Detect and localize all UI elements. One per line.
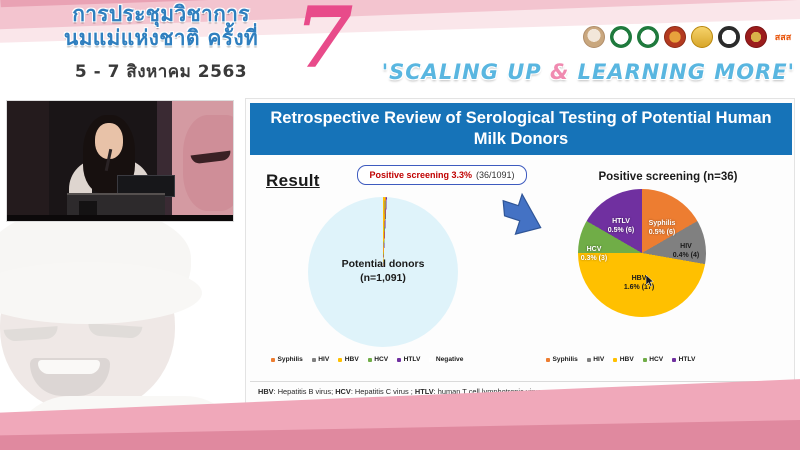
footnote-hbv-text: : Hepatitis B virus; (274, 387, 336, 396)
legend-label-hcv-right: HCV (649, 356, 663, 363)
slice-label-syphilis: Syphilis 0.5% (6) (639, 219, 685, 237)
presentation-slide: Retrospective Review of Serological Test… (245, 98, 795, 406)
legend-label-hbv-left: HBV (345, 356, 359, 363)
conference-thai-title-line2: นมแม่แห่งชาติ ครั้งที่ (16, 26, 306, 50)
legend-item-hiv-right: HIV (587, 356, 605, 363)
slice-label-syphilis-value: 0.5% (6) (639, 228, 685, 237)
positive-screening-callout: Positive screening 3.3% (36/1091) (357, 165, 527, 185)
legend-label-syphilis-left: Syphilis (278, 356, 303, 363)
legend-item-hcv-right: HCV (643, 356, 663, 363)
slice-label-hcv-name: HCV (577, 245, 611, 254)
slice-label-htlv: HTLV 0.5% (6) (601, 217, 641, 235)
slice-label-hiv-value: 0.4% (4) (666, 251, 706, 260)
potential-donors-pie-chart: Potential donors (n=1,091) (280, 189, 508, 359)
legend-label-htlv-right: HTLV (679, 356, 696, 363)
tagline-part-1: 'SCALING UP (382, 60, 550, 84)
slice-label-hcv-value: 0.3% (3) (577, 254, 611, 263)
logo-princess-foundation-icon (583, 26, 605, 48)
logo-royal-crest-orange-icon (664, 26, 686, 48)
legend-item-hbv-left: HBV (338, 356, 358, 363)
callout-detail-text: (36/1091) (476, 170, 515, 180)
legend-swatch-hiv-right (587, 358, 591, 362)
slice-label-hbv-value: 1.6% (17) (612, 283, 666, 292)
legend-item-hiv-left: HIV (312, 356, 330, 363)
legend-item-htlv-right: HTLV (672, 356, 695, 363)
legend-swatch-htlv-left (397, 358, 401, 362)
potential-donors-label-line2: (n=1,091) (292, 271, 474, 285)
legend-swatch-hcv-left (368, 358, 372, 362)
legend-swatch-syphilis-left (271, 358, 275, 362)
positive-screening-pie-title: Positive screening (n=36) (546, 171, 790, 183)
logo-green-shield-2-icon (637, 26, 659, 48)
conference-thai-title: การประชุมวิชาการ นมแม่แห่งชาติ ครั้งที่ (16, 2, 306, 50)
footnote-hbv-key: HBV (258, 387, 274, 396)
legend-label-hcv-left: HCV (374, 356, 388, 363)
legend-swatch-hcv-right (643, 358, 647, 362)
legend-label-hiv-right: HIV (593, 356, 604, 363)
stage-floor (7, 215, 233, 221)
legend-label-hbv-right: HBV (620, 356, 634, 363)
legend-label-negative-left: Negative (436, 356, 464, 363)
screenshot-root: การประชุมวิชาการ นมแม่แห่งชาติ ครั้งที่ … (0, 0, 800, 450)
result-heading: Result (266, 171, 320, 191)
legend-item-hcv-left: HCV (368, 356, 388, 363)
positive-screening-legend: Syphilis HIV HBV HCV HTLV (546, 356, 695, 363)
slide-title: Retrospective Review of Serological Test… (250, 103, 792, 155)
conference-edition-number: 7 (295, 0, 353, 80)
legend-swatch-syphilis-right (546, 358, 550, 362)
video-projection-baby-face (183, 115, 234, 211)
slice-label-hiv-name: HIV (666, 242, 706, 251)
legend-label-htlv-left: HTLV (404, 356, 421, 363)
conference-tagline: 'SCALING UP & LEARNING MORE' (355, 60, 795, 84)
potential-donors-label-line1: Potential donors (292, 257, 474, 271)
footnote-hcv-key: HCV (335, 387, 351, 396)
slice-label-hbv: HBV 1.6% (17) (612, 274, 666, 292)
callout-highlight-text: Positive screening 3.3% (369, 170, 472, 180)
legend-item-negative-left: Negative (429, 356, 463, 363)
legend-item-syphilis-left: Syphilis (271, 356, 303, 363)
legend-swatch-negative-left (429, 358, 433, 362)
slice-label-syphilis-name: Syphilis (639, 219, 685, 228)
logo-black-emblem-icon (718, 26, 740, 48)
mouse-cursor-icon (646, 275, 655, 287)
slice-label-hbv-name: HBV (612, 274, 666, 283)
tagline-ampersand: & (550, 60, 569, 84)
potential-donors-legend: Syphilis HIV HBV HCV HTLV Negative (271, 356, 463, 363)
potential-donors-pie-label: Potential donors (n=1,091) (292, 257, 474, 285)
slice-label-hiv: HIV 0.4% (4) (666, 242, 706, 260)
legend-item-syphilis-right: Syphilis (546, 356, 578, 363)
slice-label-htlv-value: 0.5% (6) (601, 226, 641, 235)
legend-item-htlv-left: HTLV (397, 356, 420, 363)
background-child-photo-watermark (0, 200, 260, 435)
slice-label-hcv: HCV 0.3% (3) (577, 245, 611, 263)
conference-thai-title-line1: การประชุมวิชาการ (16, 2, 306, 26)
legend-label-syphilis-right: Syphilis (553, 356, 578, 363)
presenter-video-feed[interactable] (6, 100, 234, 222)
legend-swatch-hiv-left (312, 358, 316, 362)
logo-green-shield-1-icon (610, 26, 632, 48)
video-background-left (7, 101, 49, 221)
logo-royal-crest-gold-icon (691, 26, 713, 48)
logo-thaihealth-icon: สสส (772, 26, 794, 48)
logo-red-crest-icon (745, 26, 767, 48)
conference-header-banner: การประชุมวิชาการ นมแม่แห่งชาติ ครั้งที่ … (0, 0, 800, 92)
legend-label-hiv-left: HIV (318, 356, 329, 363)
legend-swatch-hbv-left (338, 358, 342, 362)
conference-date: 5 - 7 สิงหาคม 2563 (16, 58, 306, 85)
tagline-part-2: LEARNING MORE' (569, 60, 795, 84)
footnote-hcv-text: : Hepatitis C virus ; (351, 387, 415, 396)
sponsor-logo-row: สสส (583, 26, 794, 48)
slice-label-htlv-name: HTLV (601, 217, 641, 226)
legend-swatch-htlv-right (672, 358, 676, 362)
legend-item-hbv-right: HBV (613, 356, 633, 363)
legend-swatch-hbv-right (613, 358, 617, 362)
